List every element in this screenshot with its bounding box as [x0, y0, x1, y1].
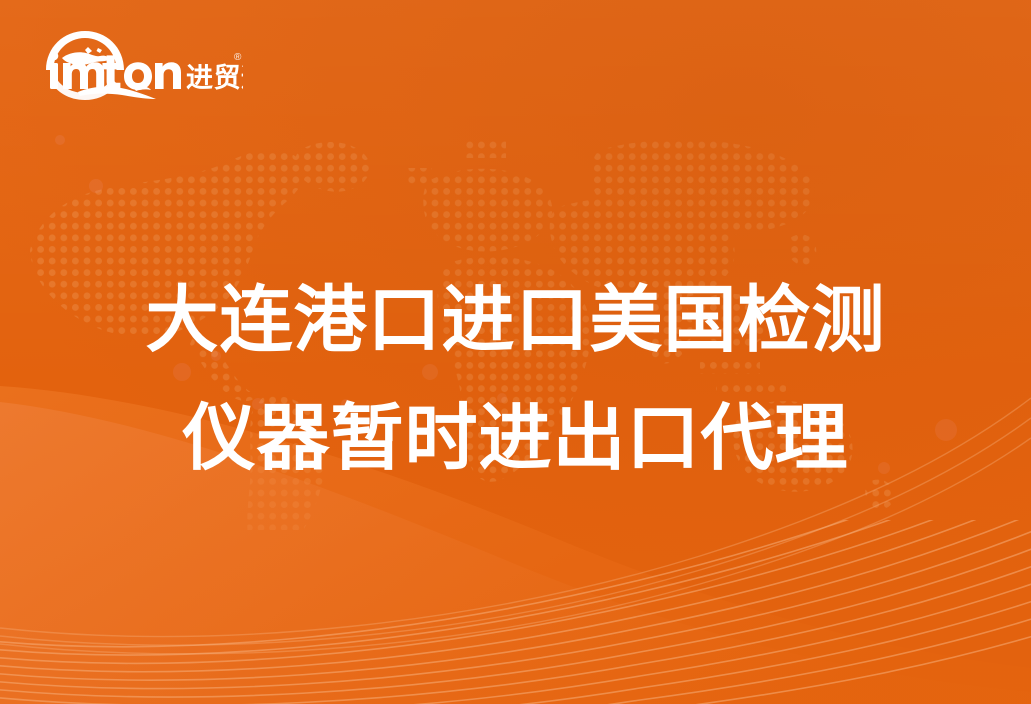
brand-logo[interactable]: 进贸通 ®	[38, 26, 243, 104]
registered-trademark-icon: ®	[234, 52, 242, 63]
page-title-line-2: 仪器暂时进出口代理	[0, 380, 1031, 498]
brand-logo-svg: 进贸通 ®	[38, 26, 243, 104]
logo-wordmark-chinese: 进贸通	[186, 63, 243, 93]
promo-banner: 进贸通 ® 大连港口进口美国检测 仪器暂时进出口代理	[0, 0, 1031, 704]
page-title: 大连港口进口美国检测 仪器暂时进出口代理	[0, 262, 1031, 498]
page-title-line-1: 大连港口进口美国检测	[0, 262, 1031, 380]
